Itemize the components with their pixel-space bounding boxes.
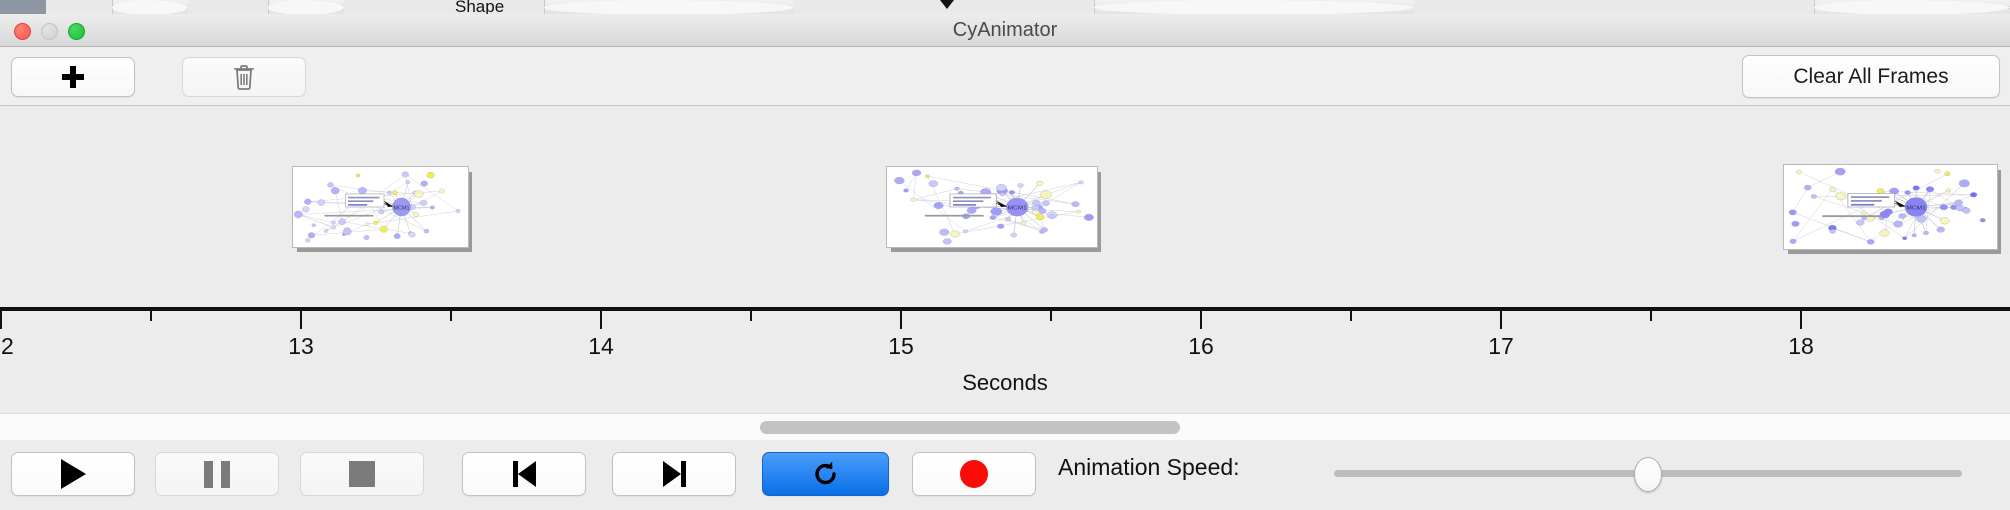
timeline-ticks: 12131415161718 xyxy=(0,311,2010,411)
record-button[interactable] xyxy=(912,452,1036,496)
axis-tick-minor xyxy=(150,311,152,321)
svg-text:MCM1: MCM1 xyxy=(394,205,410,211)
clear-all-frames-button[interactable]: Clear All Frames xyxy=(1742,55,2000,98)
bg-segment xyxy=(188,0,269,14)
stop-button[interactable] xyxy=(300,452,424,496)
bg-segment xyxy=(268,0,345,14)
animation-speed-slider[interactable] xyxy=(1334,452,1962,494)
svg-text:MCM1: MCM1 xyxy=(1008,206,1028,211)
skip-forward-icon xyxy=(663,461,686,487)
toolbar: Clear All Frames xyxy=(0,47,2010,106)
bg-segment xyxy=(1814,0,2010,14)
axis-tick-minor xyxy=(750,311,752,321)
axis-tick-label: 17 xyxy=(1488,333,1514,360)
frame-thumbnail[interactable]: MCM1 xyxy=(292,166,469,248)
skip-back-button[interactable] xyxy=(462,452,586,496)
timeline-frame[interactable]: MCM1 xyxy=(292,166,467,246)
network-thumbnail: MCM1 xyxy=(293,167,468,247)
loop-icon xyxy=(811,459,841,489)
background-window-strip: Shape xyxy=(0,0,2010,14)
axis-tick-major xyxy=(300,311,302,329)
cyanimator-window: Shape CyAnimator Clear All Frames MCM1MC… xyxy=(0,0,2010,510)
axis-tick-label: 14 xyxy=(588,333,614,360)
axis-tick-minor xyxy=(450,311,452,321)
axis-tick-label: 12 xyxy=(0,333,14,360)
add-frame-button[interactable] xyxy=(11,57,135,97)
stop-icon xyxy=(349,461,375,487)
axis-tick-major xyxy=(600,311,602,329)
skip-back-icon xyxy=(513,461,536,487)
axis-tick-minor xyxy=(1050,311,1052,321)
pause-icon xyxy=(204,461,230,488)
frame-thumbnail[interactable]: MCM1 xyxy=(886,166,1098,248)
svg-text:MCM1: MCM1 xyxy=(1906,205,1926,211)
bg-segment xyxy=(1094,0,1415,14)
delete-frame-button[interactable] xyxy=(182,57,306,97)
timeline-frame[interactable]: MCM1 xyxy=(1783,164,1996,248)
title-bar: CyAnimator xyxy=(0,14,2010,47)
bg-segment xyxy=(344,0,545,14)
timeline-scrollbar[interactable] xyxy=(0,413,2010,441)
network-thumbnail: MCM1 xyxy=(1784,165,1997,249)
play-icon xyxy=(61,459,86,489)
timeline-frame[interactable]: MCM1 xyxy=(886,166,1096,246)
axis-tick-label: 16 xyxy=(1188,333,1214,360)
axis-tick-label: 18 xyxy=(1788,333,1814,360)
axis-tick-major xyxy=(1200,311,1202,329)
bg-segment xyxy=(544,0,795,14)
record-icon xyxy=(960,460,988,488)
pause-button[interactable] xyxy=(155,452,279,496)
window-title: CyAnimator xyxy=(0,14,2010,46)
animation-speed-label: Animation Speed: xyxy=(1058,454,1240,481)
axis-tick-minor xyxy=(1650,311,1652,321)
axis-tick-major xyxy=(900,311,902,329)
loop-button[interactable] xyxy=(762,452,889,496)
axis-title: Seconds xyxy=(0,370,2010,396)
bg-segment xyxy=(1414,0,1815,14)
bg-segment xyxy=(0,0,47,14)
slider-thumb[interactable] xyxy=(1634,457,1662,492)
network-thumbnail: MCM1 xyxy=(887,167,1097,247)
axis-tick-label: 13 xyxy=(288,333,314,360)
bg-segment xyxy=(46,0,113,14)
axis-tick-minor xyxy=(1350,311,1352,321)
background-window-label: Shape xyxy=(455,0,504,14)
caret-down-icon xyxy=(940,0,954,9)
trash-icon xyxy=(233,64,255,90)
axis-tick-major xyxy=(1500,311,1502,329)
playback-bar: Animation Speed: xyxy=(0,440,2010,510)
play-button[interactable] xyxy=(11,452,135,496)
plus-icon xyxy=(61,65,85,89)
skip-forward-button[interactable] xyxy=(612,452,736,496)
bg-segment xyxy=(112,0,189,14)
axis-tick-major xyxy=(0,311,2,329)
frame-thumbnail[interactable]: MCM1 xyxy=(1783,164,1998,250)
axis-tick-major xyxy=(1800,311,1802,329)
scrollbar-thumb[interactable] xyxy=(760,421,1180,434)
axis-tick-label: 15 xyxy=(888,333,914,360)
